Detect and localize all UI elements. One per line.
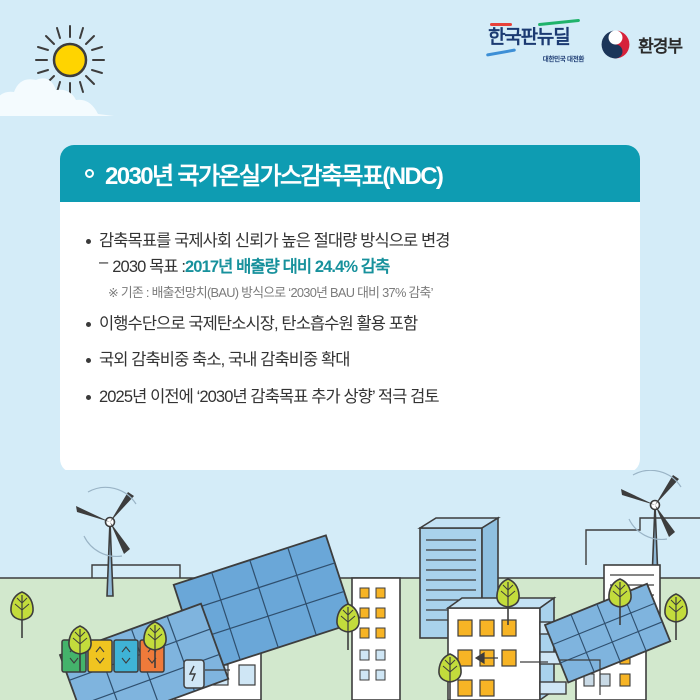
apartment-building [448, 598, 566, 700]
ministry-of-environment-logo: 환경부 [600, 29, 682, 60]
new-deal-subtitle: 대한민국 대전환 [543, 53, 584, 63]
taegeuk-icon [600, 29, 631, 60]
cloud-icon [0, 70, 124, 125]
page-title: 2030년 국가온실가스감축목표(NDC) [105, 156, 442, 191]
highlight-target-value: 2017년 배출량 대비 24.4% 감축 [185, 253, 389, 277]
korean-new-deal-logo: 한국판뉴딜 대한민국 대전환 [486, 20, 584, 68]
sub-item: – 2030 목표 : 2017년 배출량 대비 24.4% 감축 [86, 253, 614, 277]
green-city-illustration [0, 470, 700, 700]
ev-charger [184, 660, 204, 688]
bullet-icon [86, 239, 91, 244]
list-item: 2025년 이전에 ‘2030년 감축목표 추가 상향’ 적극 검토 [86, 385, 614, 411]
bullet-text: 국외 감축비중 축소, 국내 감축비중 확대 [99, 348, 350, 374]
bullet-text: 이행수단으로 국제탄소시장, 탄소흡수원 활용 포함 [99, 312, 417, 338]
footnote: ※ 기존 : 배출전망치(BAU) 방식으로 ‘2030년 BAU 대비 37%… [86, 282, 614, 301]
content-card: 2030년 국가온실가스감축목표(NDC) 감축목표를 국제사회 신뢰가 높은 … [60, 145, 640, 473]
logo-group: 한국판뉴딜 대한민국 대전환 환경부 [486, 20, 682, 68]
bullet-text: 2025년 이전에 ‘2030년 감축목표 추가 상향’ 적극 검토 [99, 385, 439, 411]
bullet-icon [86, 322, 91, 327]
dash-icon: – [99, 253, 107, 277]
sub-label: 2030 목표 : [112, 253, 185, 277]
new-deal-wordmark: 한국판뉴딜 [488, 28, 569, 47]
card-body: 감축목표를 국제사회 신뢰가 높은 절대량 방식으로 변경 – 2030 목표 … [60, 202, 640, 410]
bullet-text: 감축목표를 국제사회 신뢰가 높은 절대량 방식으로 변경 [99, 229, 450, 255]
ministry-name: 환경부 [638, 32, 682, 57]
apartment-building [352, 578, 400, 700]
bullet-icon [86, 358, 91, 363]
list-item: 이행수단으로 국제탄소시장, 탄소흡수원 활용 포함 [86, 312, 614, 338]
card-header: 2030년 국가온실가스감축목표(NDC) [60, 145, 640, 202]
header-bullet-icon [85, 169, 94, 178]
infographic-page: 한국판뉴딜 대한민국 대전환 환경부 2030년 국가온실가스감축목표(NDC)… [0, 0, 700, 700]
list-item: 감축목표를 국제사회 신뢰가 높은 절대량 방식으로 변경 [86, 229, 614, 255]
bullet-icon [86, 395, 91, 400]
list-item: 국외 감축비중 축소, 국내 감축비중 확대 [86, 348, 614, 374]
